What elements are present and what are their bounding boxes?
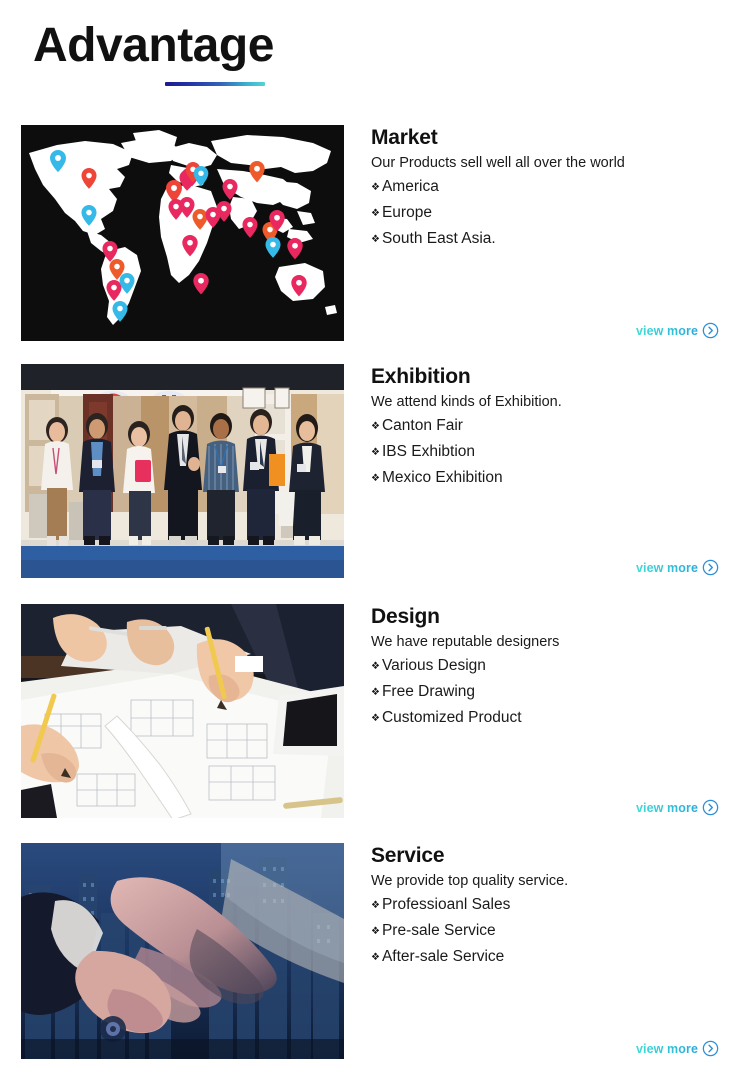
diamond-bullet-icon: ❖ [371, 655, 380, 679]
section-service-content: Service We provide top quality service. … [371, 843, 733, 1059]
diamond-bullet-icon: ❖ [371, 946, 380, 970]
list-item-label: America [382, 175, 439, 199]
title-underline-accent [165, 82, 265, 86]
list-item: ❖Various Design [371, 654, 733, 680]
view-more-link[interactable]: view more [636, 559, 719, 576]
section-design-content: Design We have reputable designers ❖Vari… [371, 604, 733, 818]
list-item-label: Canton Fair [382, 414, 463, 438]
section-market-content: Market Our Products sell well all over t… [371, 125, 733, 341]
section-subtitle: Our Products sell well all over the worl… [371, 152, 733, 174]
diamond-bullet-icon: ❖ [371, 894, 380, 918]
chevron-right-circle-icon [702, 1040, 719, 1057]
list-item-label: Customized Product [382, 706, 522, 730]
page-header: Advantage [33, 18, 433, 98]
section-market: Market Our Products sell well all over t… [0, 125, 750, 341]
list-item: ❖Pre-sale Service [371, 919, 733, 945]
list-item: ❖Professioanl Sales [371, 893, 733, 919]
diamond-bullet-icon: ❖ [371, 176, 380, 200]
section-heading: Design [371, 604, 733, 630]
section-heading: Exhibition [371, 364, 733, 390]
chevron-right-circle-icon [702, 559, 719, 576]
list-item-label: After-sale Service [382, 945, 504, 969]
list-item: ❖After-sale Service [371, 945, 733, 971]
list-item-label: Europe [382, 201, 432, 225]
section-exhibition-content: Exhibition We attend kinds of Exhibition… [371, 364, 733, 578]
view-more-link[interactable]: view more [636, 799, 719, 816]
view-more-label: view more [636, 324, 698, 338]
list-item: ❖Customized Product [371, 706, 733, 732]
diamond-bullet-icon: ❖ [371, 681, 380, 705]
diamond-bullet-icon: ❖ [371, 202, 380, 226]
list-item-label: Free Drawing [382, 680, 475, 704]
section-heading: Service [371, 843, 733, 869]
list-item: ❖Canton Fair [371, 414, 733, 440]
diamond-bullet-icon: ❖ [371, 441, 380, 465]
list-item: ❖Free Drawing [371, 680, 733, 706]
advantage-page: Advantage [0, 0, 750, 1079]
list-item-label: IBS Exhibtion [382, 440, 475, 464]
list-item-label: Various Design [382, 654, 486, 678]
section-exhibition: Exhibition We attend kinds of Exhibition… [0, 364, 750, 578]
list-item-label: South East Asia. [382, 227, 496, 251]
section-design: Design We have reputable designers ❖Vari… [0, 604, 750, 818]
view-more-link[interactable]: view more [636, 1040, 719, 1057]
diamond-bullet-icon: ❖ [371, 415, 380, 439]
chevron-right-circle-icon [702, 322, 719, 339]
diamond-bullet-icon: ❖ [371, 467, 380, 491]
diamond-bullet-icon: ❖ [371, 228, 380, 252]
section-service: Service We provide top quality service. … [0, 843, 750, 1059]
exhibition-photo [21, 364, 344, 578]
section-heading: Market [371, 125, 733, 151]
exhibition-photo-graphic [21, 364, 344, 578]
world-map-image [21, 125, 344, 341]
list-item: ❖America [371, 175, 733, 201]
section-subtitle: We provide top quality service. [371, 870, 733, 892]
view-more-label: view more [636, 561, 698, 575]
chevron-right-circle-icon [702, 799, 719, 816]
diamond-bullet-icon: ❖ [371, 707, 380, 731]
service-photo-graphic [21, 843, 344, 1059]
section-feature-list: ❖Various Design ❖Free Drawing ❖Customize… [371, 654, 733, 732]
design-photo [21, 604, 344, 818]
design-photo-graphic [21, 604, 344, 818]
page-title: Advantage [33, 18, 433, 74]
view-more-label: view more [636, 1042, 698, 1056]
view-more-label: view more [636, 801, 698, 815]
section-feature-list: ❖America ❖Europe ❖South East Asia. [371, 175, 733, 253]
list-item-label: Pre-sale Service [382, 919, 496, 943]
section-subtitle: We have reputable designers [371, 631, 733, 653]
view-more-link[interactable]: view more [636, 322, 719, 339]
list-item: ❖South East Asia. [371, 227, 733, 253]
list-item: ❖IBS Exhibtion [371, 440, 733, 466]
list-item-label: Professioanl Sales [382, 893, 510, 917]
diamond-bullet-icon: ❖ [371, 920, 380, 944]
list-item: ❖Mexico Exhibition [371, 466, 733, 492]
list-item-label: Mexico Exhibition [382, 466, 503, 490]
section-feature-list: ❖Professioanl Sales ❖Pre-sale Service ❖A… [371, 893, 733, 971]
service-photo [21, 843, 344, 1059]
section-feature-list: ❖Canton Fair ❖IBS Exhibtion ❖Mexico Exhi… [371, 414, 733, 492]
list-item: ❖Europe [371, 201, 733, 227]
map-pins-layer [21, 125, 344, 341]
section-subtitle: We attend kinds of Exhibition. [371, 391, 733, 413]
